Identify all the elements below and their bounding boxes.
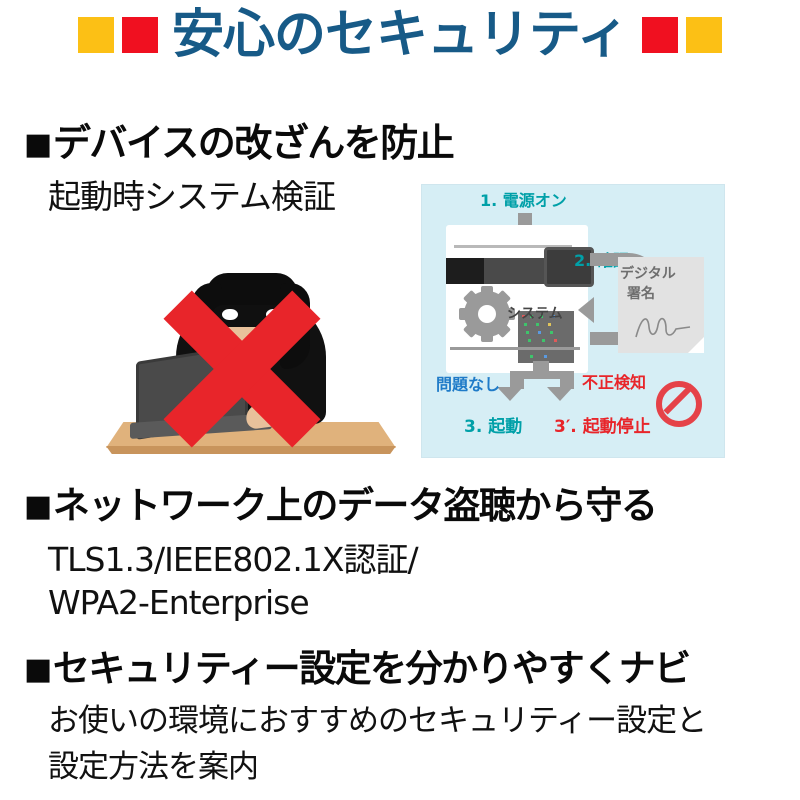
title-square-red-left	[122, 17, 158, 53]
spacer	[114, 35, 122, 36]
gear-icon	[464, 291, 510, 337]
page-title: 安心のセキュリティ	[0, 2, 800, 68]
hacker-illustration	[96, 243, 406, 458]
verify-loop-arrow-head	[578, 297, 594, 323]
secure-boot-diagram: 1. 電源オン	[421, 184, 725, 458]
bullet-square-icon: ■	[24, 489, 51, 524]
section-2-subline-2: WPA2-Enterprise	[48, 586, 309, 619]
digital-signature-label-1: デジタル	[620, 267, 676, 281]
title-square-red-right	[642, 17, 678, 53]
spacer	[678, 35, 686, 36]
bullet-square-icon: ■	[24, 652, 51, 687]
section-3-subline-1: お使いの環境におすすめのセキュリティー設定と	[48, 706, 706, 737]
section-heading-1: ■デバイスの改ざんを防止	[24, 124, 453, 162]
section-1-subline-1: 起動時システム検証	[48, 180, 335, 213]
red-x-mark-icon	[152, 279, 332, 459]
title-square-yellow-right	[686, 17, 722, 53]
section-heading-2: ■ネットワーク上のデータ盗聴から守る	[24, 487, 656, 524]
device-bar-dark	[446, 258, 484, 284]
diagram-system-label: システム	[507, 307, 563, 321]
signature-scribble-icon	[632, 311, 694, 341]
bullet-square-icon: ■	[24, 127, 51, 162]
section-heading-3: ■セキュリティー設定を分かりやすくナビ	[24, 650, 690, 687]
diagram-ok-label: 問題なし	[436, 377, 500, 393]
section-heading-3-text: セキュリティー設定を分かりやすくナビ	[53, 647, 690, 690]
prohibition-icon	[656, 381, 702, 427]
diagram-step3-ok-label: 3. 起動	[464, 419, 522, 436]
arrow-ng-head	[547, 387, 573, 401]
digital-signature-label-2: 署名	[627, 287, 655, 301]
device-card	[446, 225, 588, 373]
slide-root: 安心のセキュリティ ■デバイスの改ざんを防止 起動時システム検証 1. 電源オン	[0, 0, 800, 800]
section-2-subline-1: TLS1.3/IEEE802.1X認証/	[48, 543, 418, 576]
diagram-ng-label: 不正検知	[582, 375, 646, 391]
title-square-yellow-left	[78, 17, 114, 53]
section-heading-1-text: デバイスの改ざんを防止	[53, 121, 453, 165]
section-3-subline-2: 設定方法を案内	[48, 752, 258, 783]
device-line-bottom	[450, 347, 580, 350]
section-heading-2-text: ネットワーク上のデータ盗聴から守る	[53, 484, 657, 527]
arrow-ok-head	[497, 387, 523, 401]
title-text: 安心のセキュリティ	[158, 9, 642, 61]
diagram-step3-ng-label: 3′. 起動停止	[554, 419, 651, 436]
diagram-step1-label: 1. 電源オン	[480, 193, 567, 209]
